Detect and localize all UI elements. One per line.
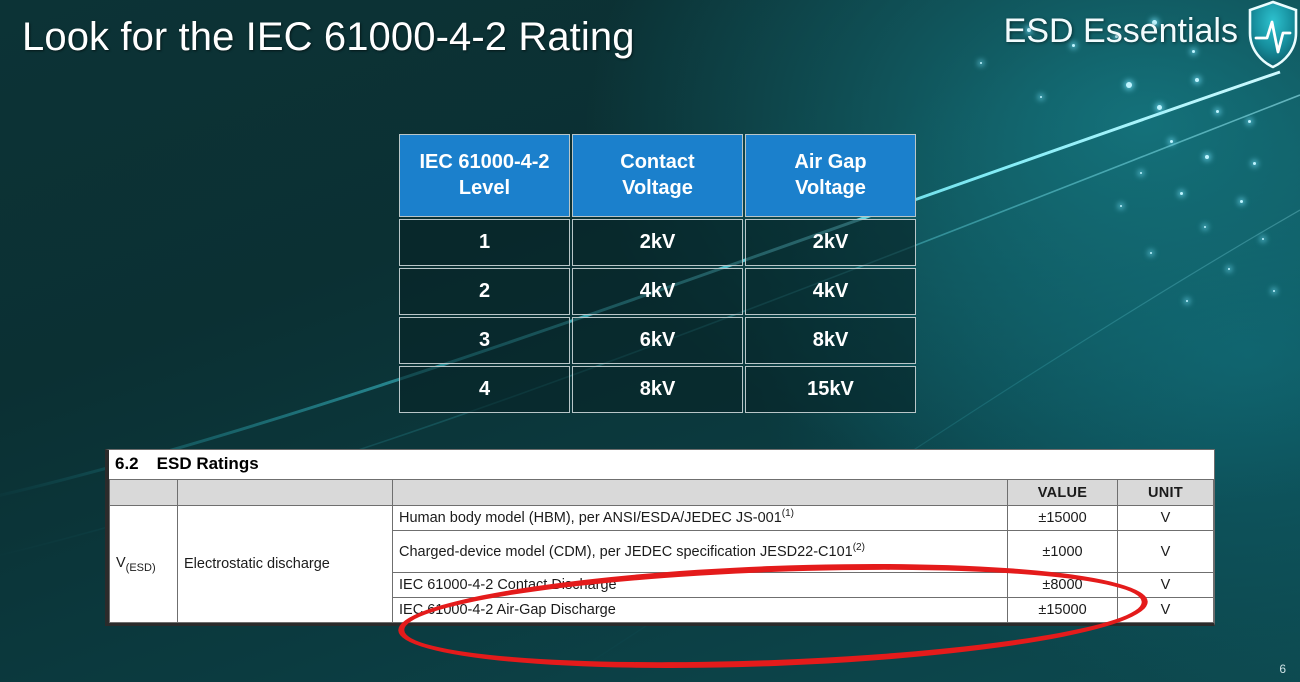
datasheet-unit-cdm: V: [1118, 531, 1214, 573]
datasheet-parameter-name: Electrostatic discharge: [178, 506, 393, 623]
iec-level-value: 4: [399, 366, 570, 413]
datasheet-unit-iec-contact: V: [1118, 573, 1214, 598]
table-row: V(ESD) Electrostatic discharge Human bod…: [110, 506, 1214, 531]
iec-header-level-line2: Level: [459, 177, 510, 199]
iec-header-contact-line2: Voltage: [622, 177, 693, 199]
datasheet-section-heading: 6.2ESD Ratings: [109, 450, 1214, 479]
datasheet-symbol-vesd: V(ESD): [110, 506, 178, 623]
iec-airgap-value: 2kV: [745, 219, 916, 266]
iec-level-value: 3: [399, 317, 570, 364]
datasheet-header-blank-description: [393, 480, 1008, 506]
datasheet-description-hbm: Human body model (HBM), per ANSI/ESDA/JE…: [393, 506, 1008, 531]
iec-contact-value: 8kV: [572, 366, 743, 413]
page-number: 6: [1279, 662, 1286, 676]
footnote-marker: (1): [782, 508, 794, 519]
iec-level-table: IEC 61000-4-2 Level Contact Voltage Air …: [397, 132, 918, 415]
iec-header-airgap-line1: Air Gap: [794, 151, 866, 173]
footnote-marker: (2): [853, 542, 865, 553]
brand-lockup: ESD Essentials: [1004, 12, 1238, 51]
iec-header-airgap-line2: Voltage: [795, 177, 866, 199]
datasheet-description-iec-contact: IEC 61000-4-2 Contact Discharge: [393, 573, 1008, 598]
iec-header-level-line1: IEC 61000-4-2: [419, 151, 549, 173]
datasheet-section-label: ESD Ratings: [157, 454, 259, 473]
iec-level-value: 1: [399, 219, 570, 266]
iec-contact-value: 2kV: [572, 219, 743, 266]
datasheet-value-hbm: ±15000: [1008, 506, 1118, 531]
datasheet-header-value: VALUE: [1008, 480, 1118, 506]
iec-airgap-value: 15kV: [745, 366, 916, 413]
iec-header-contact-voltage: Contact Voltage: [572, 134, 743, 217]
iec-table-header-row: IEC 61000-4-2 Level Contact Voltage Air …: [399, 134, 916, 217]
datasheet-value-iec-contact: ±8000: [1008, 573, 1118, 598]
datasheet-symbol-subscript: (ESD): [126, 561, 156, 573]
datasheet-esd-ratings-table: 6.2ESD Ratings VALUE UNIT V(ESD) Electro…: [105, 449, 1215, 626]
table-row: 1 2kV 2kV: [399, 219, 916, 266]
iec-contact-value: 4kV: [572, 268, 743, 315]
brand-name: ESD Essentials: [1004, 12, 1238, 51]
datasheet-header-unit: UNIT: [1118, 480, 1214, 506]
datasheet-unit-hbm: V: [1118, 506, 1214, 531]
iec-header-level: IEC 61000-4-2 Level: [399, 134, 570, 217]
datasheet-description-text: Human body model (HBM), per ANSI/ESDA/JE…: [399, 510, 782, 526]
iec-contact-value: 6kV: [572, 317, 743, 364]
datasheet-header-blank-parameter: [178, 480, 393, 506]
iec-level-value: 2: [399, 268, 570, 315]
presentation-slide: Look for the IEC 61000-4-2 Rating ESD Es…: [0, 0, 1300, 682]
page-title: Look for the IEC 61000-4-2 Rating: [22, 15, 635, 60]
datasheet-symbol-letter: V: [116, 555, 126, 571]
table-row: 3 6kV 8kV: [399, 317, 916, 364]
datasheet-header-row: VALUE UNIT: [110, 480, 1214, 506]
datasheet-description-text: Charged-device model (CDM), per JEDEC sp…: [399, 544, 853, 560]
shield-pulse-icon: [1246, 0, 1300, 70]
datasheet-value-iec-airgap: ±15000: [1008, 598, 1118, 623]
iec-header-contact-line1: Contact: [620, 151, 694, 173]
iec-airgap-value: 8kV: [745, 317, 916, 364]
datasheet-unit-iec-airgap: V: [1118, 598, 1214, 623]
datasheet-description-cdm: Charged-device model (CDM), per JEDEC sp…: [393, 531, 1008, 573]
datasheet-description-iec-airgap: IEC 61000-4-2 Air-Gap Discharge: [393, 598, 1008, 623]
iec-header-air-gap-voltage: Air Gap Voltage: [745, 134, 916, 217]
datasheet-section-number: 6.2: [115, 454, 139, 473]
iec-airgap-value: 4kV: [745, 268, 916, 315]
table-row: 2 4kV 4kV: [399, 268, 916, 315]
table-row: 4 8kV 15kV: [399, 366, 916, 413]
datasheet-value-cdm: ±1000: [1008, 531, 1118, 573]
datasheet-header-blank-symbol: [110, 480, 178, 506]
